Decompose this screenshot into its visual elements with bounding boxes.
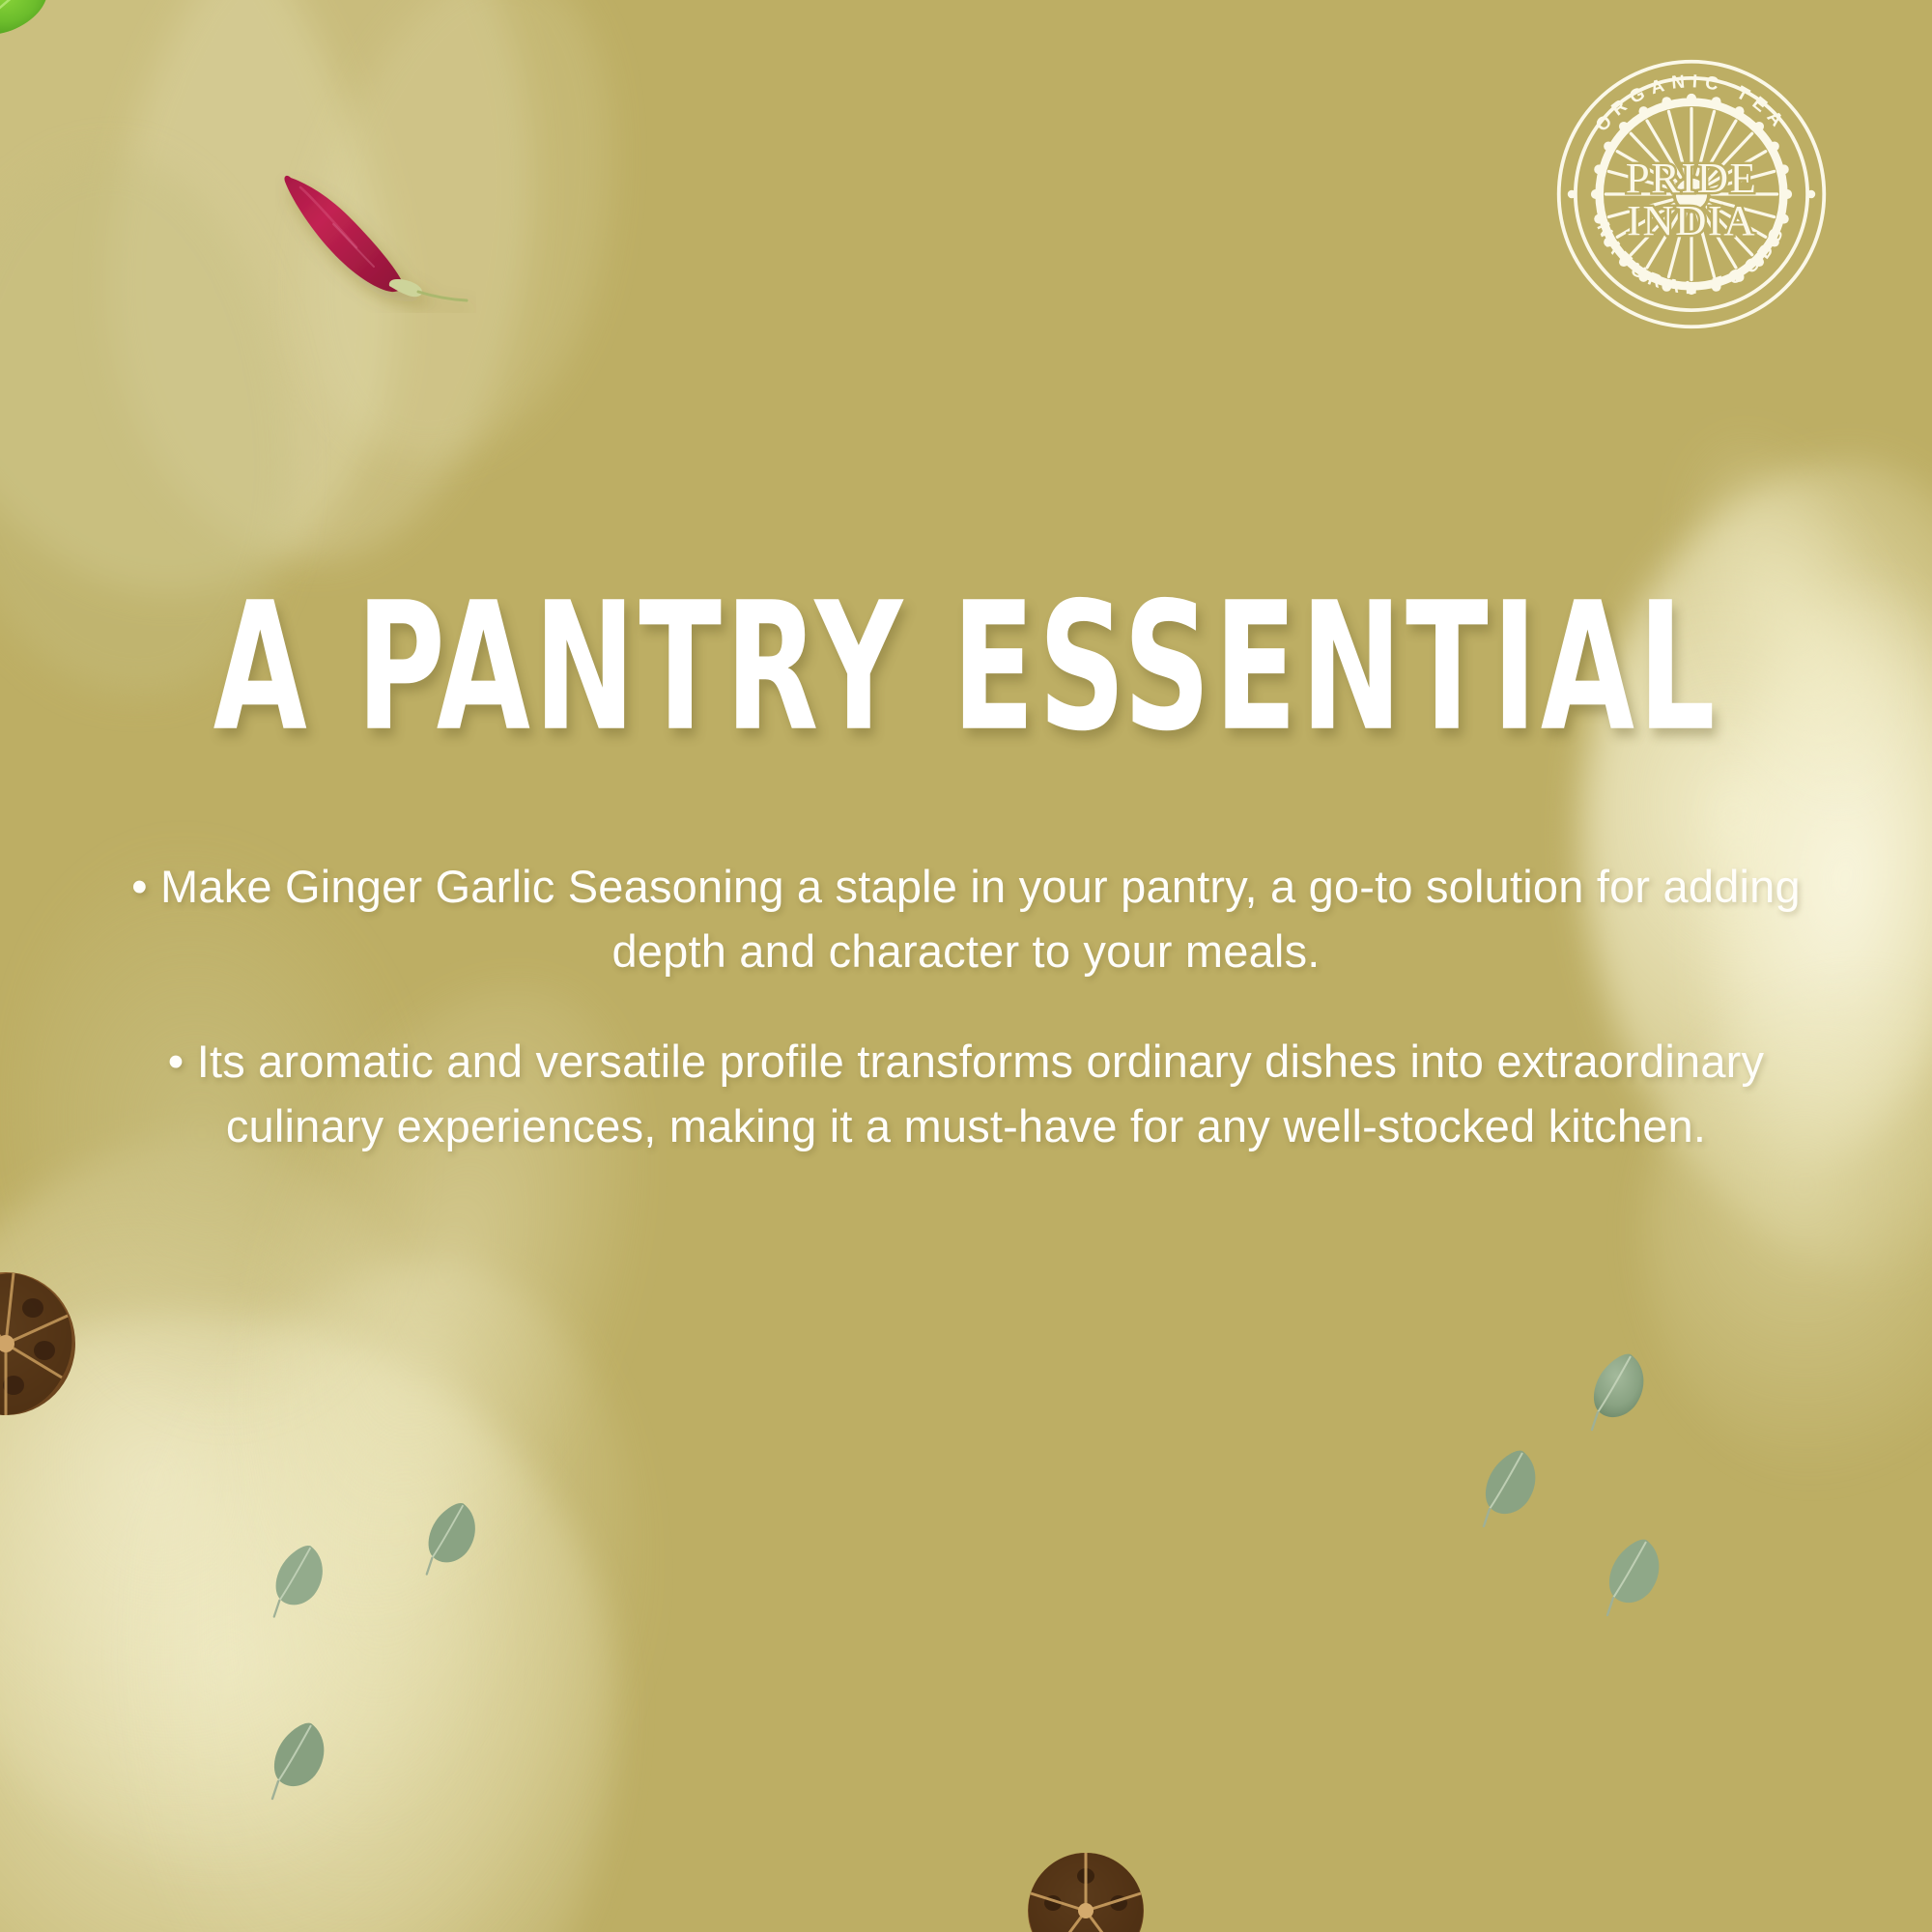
bullet-item: • Its aromatic and versatile profile tra… <box>97 1030 1835 1158</box>
basil-leaf-icon <box>0 0 91 85</box>
logo-center-line-1: PRIDE <box>1626 154 1758 202</box>
bullet-item: • Make Ginger Garlic Seasoning a staple … <box>97 855 1835 983</box>
promo-graphic-canvas: ORGANIC TEA NATURAL FOODS <box>0 0 1932 1932</box>
chili-pepper-icon <box>275 170 476 313</box>
cream-swirl-bottom-left-2 <box>0 1076 582 1932</box>
body-copy: • Make Ginger Garlic Seasoning a staple … <box>97 855 1835 1159</box>
garlic-bulb-icon <box>0 1271 87 1416</box>
cream-swirl-bottom-left-1 <box>0 1314 618 1932</box>
sage-leaf-icon <box>1604 1536 1667 1617</box>
sage-leaf-icon <box>270 1542 330 1619</box>
sage-leaf-icon <box>267 1719 334 1801</box>
translucent-shape-top-left-1 <box>0 0 449 643</box>
logo-center-line-2: INDIA <box>1627 196 1756 244</box>
cream-swirl-bottom-left-3 <box>42 1215 712 1932</box>
sage-leaf-icon <box>1588 1350 1652 1432</box>
sage-leaf-icon <box>423 1499 483 1577</box>
pride-india-logo: ORGANIC TEA NATURAL FOODS <box>1553 56 1830 332</box>
sage-leaf-icon <box>1480 1447 1544 1528</box>
garlic-bulb-icon <box>1026 1847 1146 1932</box>
page-title: A PANTRY ESSENTIAL <box>68 580 1864 756</box>
